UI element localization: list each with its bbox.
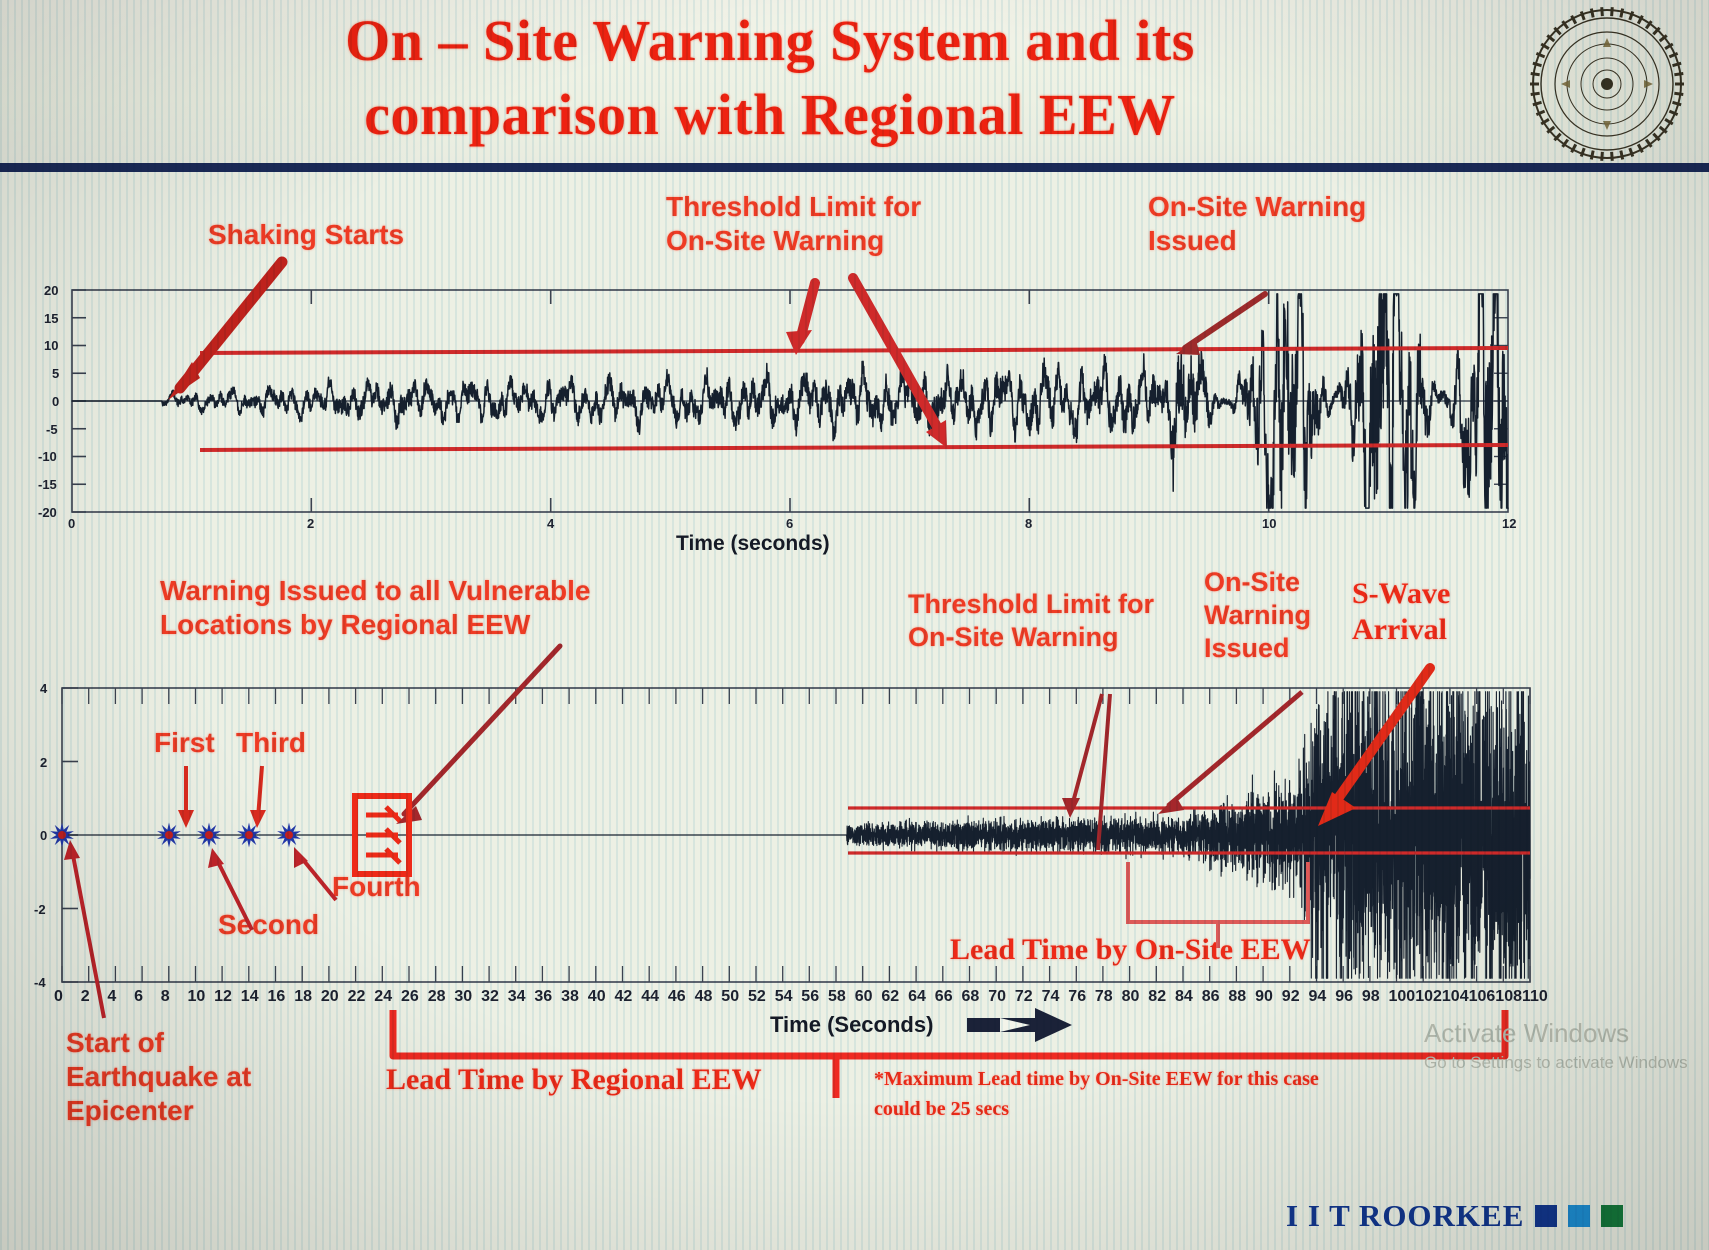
bottom-xtick-108: 108 [1495,988,1522,1006]
bottom-xtick-66: 66 [935,988,953,1006]
bottom-xtick-104: 104 [1442,988,1469,1006]
bottom-xtick-24: 24 [374,988,392,1006]
bottom-xtick-26: 26 [401,988,419,1006]
bottom-xtick-2: 2 [81,988,90,1006]
time-direction-arrow [967,1008,1072,1042]
bottom-xtick-46: 46 [668,988,686,1006]
watermark-line-2: Go to Settings to activate Windows [1424,1053,1688,1073]
bottom-xtick-50: 50 [721,988,739,1006]
arrow-third [250,766,266,828]
bottom-chart-xlabel: Time (Seconds) [770,1012,933,1038]
bot-ytick-4: 4 [40,681,47,696]
arrow-threshold-bottom-1 [970,800,1000,820]
bracket-lead-time-regional [393,1010,1505,1098]
star-marker-epicenter [49,822,75,848]
bottom-xtick-78: 78 [1095,988,1113,1006]
star-marker-alert-3 [236,822,262,848]
slide-root: On – Site Warning System and its compari… [0,0,1709,1250]
brand-square-navy [1535,1205,1557,1227]
bottom-xtick-32: 32 [481,988,499,1006]
bottom-xtick-74: 74 [1042,988,1060,1006]
bot-ytick-m2: -2 [34,902,46,917]
star-marker-alert-1 [156,822,182,848]
bottom-xtick-96: 96 [1335,988,1353,1006]
bottom-xtick-100: 100 [1389,988,1416,1006]
bottom-xtick-20: 20 [321,988,339,1006]
bottom-xtick-102: 102 [1415,988,1442,1006]
regional-eew-alert-icon [352,793,412,877]
bottom-xtick-72: 72 [1015,988,1033,1006]
bottom-xtick-58: 58 [828,988,846,1006]
watermark-line-1: Activate Windows [1424,1018,1688,1049]
bottom-xtick-28: 28 [428,988,446,1006]
bottom-xtick-62: 62 [881,988,899,1006]
star-marker-alert-4 [276,822,302,848]
bottom-xtick-52: 52 [748,988,766,1006]
bottom-xtick-18: 18 [294,988,312,1006]
bottom-xtick-92: 92 [1282,988,1300,1006]
windows-watermark: Activate Windows Go to Settings to activ… [1424,1018,1688,1073]
bottom-xtick-38: 38 [561,988,579,1006]
bottom-xtick-36: 36 [534,988,552,1006]
bottom-xtick-54: 54 [775,988,793,1006]
bottom-xtick-0: 0 [54,988,63,1006]
bottom-xtick-48: 48 [695,988,713,1006]
bottom-xtick-94: 94 [1309,988,1327,1006]
footer-brand-text: I I T ROORKEE [1286,1198,1524,1234]
star-marker-alert-2 [196,822,222,848]
bracket-lead-time-onsite [1128,862,1308,948]
brand-square-blue [1568,1205,1590,1227]
bottom-xtick-8: 8 [161,988,170,1006]
bottom-xtick-110: 110 [1522,988,1548,1006]
bottom-xtick-70: 70 [988,988,1006,1006]
bottom-xtick-76: 76 [1068,988,1086,1006]
bottom-xtick-40: 40 [588,988,606,1006]
bottom-xtick-86: 86 [1202,988,1220,1006]
bottom-xtick-64: 64 [908,988,926,1006]
brand-square-green [1601,1205,1623,1227]
bottom-xtick-12: 12 [214,988,232,1006]
bottom-xtick-88: 88 [1228,988,1246,1006]
bottom-xtick-34: 34 [508,988,526,1006]
bottom-xtick-30: 30 [454,988,472,1006]
bottom-xtick-82: 82 [1148,988,1166,1006]
bottom-xtick-44: 44 [641,988,659,1006]
bottom-xtick-14: 14 [241,988,259,1006]
bottom-xtick-16: 16 [268,988,286,1006]
arrow-warning-issued-bottom [1158,692,1302,814]
bot-ytick-0: 0 [40,828,47,843]
bottom-xtick-4: 4 [107,988,116,1006]
bot-ytick-m4: -4 [34,975,46,990]
bottom-xtick-60: 60 [855,988,873,1006]
bottom-xtick-80: 80 [1122,988,1140,1006]
bottom-xtick-10: 10 [188,988,206,1006]
bottom-xtick-98: 98 [1362,988,1380,1006]
footer-brand: I I T ROORKEE [1286,1198,1623,1234]
bottom-xtick-6: 6 [134,988,143,1006]
bottom-xtick-106: 106 [1469,988,1496,1006]
bottom-xtick-90: 90 [1255,988,1273,1006]
bottom-xtick-68: 68 [962,988,980,1006]
bottom-xtick-84: 84 [1175,988,1193,1006]
bot-ytick-2: 2 [40,755,47,770]
arrow-fourth [294,847,336,900]
bottom-xtick-42: 42 [615,988,633,1006]
bottom-xtick-22: 22 [348,988,366,1006]
arrow-regional-warning [396,646,560,824]
arrow-first [178,766,194,828]
arrow-second [208,848,252,930]
bottom-xtick-56: 56 [801,988,819,1006]
